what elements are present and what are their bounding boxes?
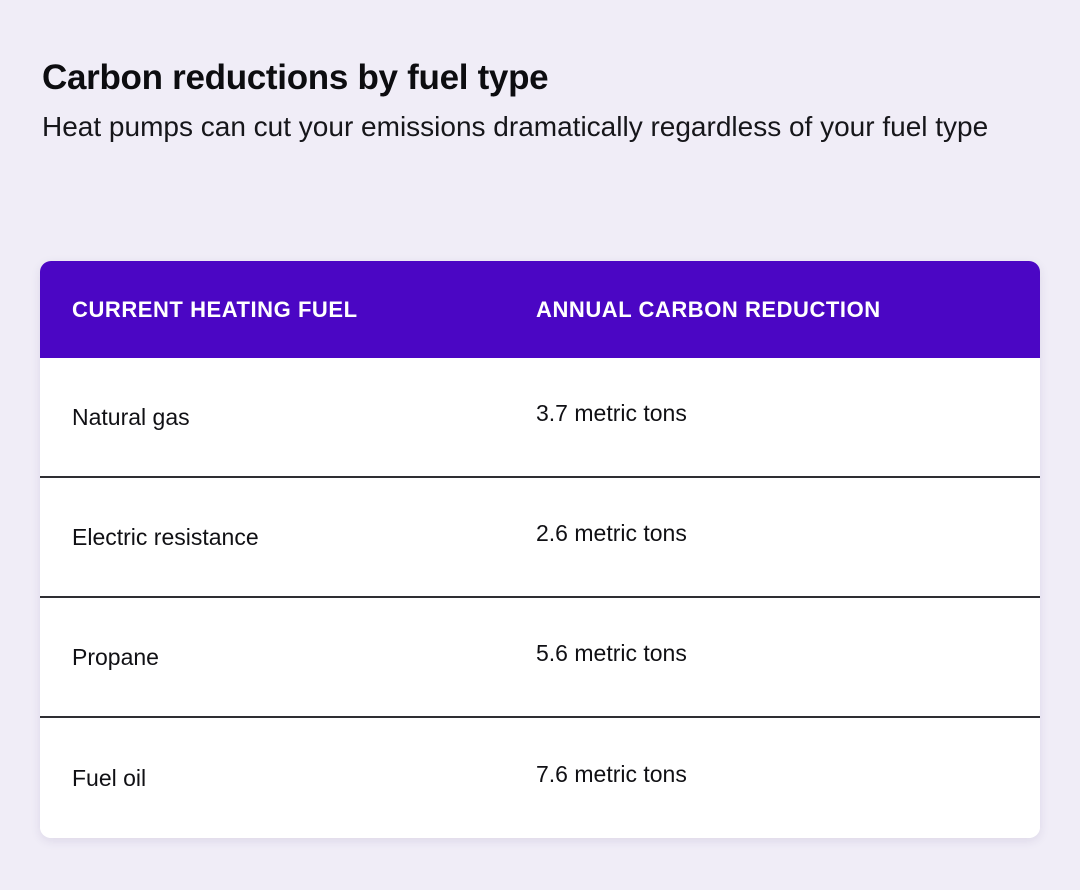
column-header-current-heating-fuel: CURRENT HEATING FUEL (72, 297, 536, 323)
table-row: Fuel oil 7.6 metric tons (40, 718, 1040, 838)
column-header-annual-carbon-reduction: ANNUAL CARBON REDUCTION (536, 297, 1008, 323)
page-title: Carbon reductions by fuel type (42, 56, 1022, 100)
page-subtitle: Heat pumps can cut your emissions dramat… (42, 100, 1007, 145)
cell-carbon-reduction: 5.6 metric tons (536, 638, 1008, 668)
cell-carbon-reduction: 3.7 metric tons (536, 398, 1008, 428)
table-row: Electric resistance 2.6 metric tons (40, 478, 1040, 598)
cell-fuel-type: Electric resistance (72, 522, 536, 552)
cell-fuel-type: Propane (72, 642, 536, 672)
page-root: Carbon reductions by fuel type Heat pump… (0, 0, 1080, 890)
cell-fuel-type: Natural gas (72, 402, 536, 432)
heading-block: Carbon reductions by fuel type Heat pump… (42, 56, 1022, 145)
table-body: Natural gas 3.7 metric tons Electric res… (40, 358, 1040, 838)
table-row: Natural gas 3.7 metric tons (40, 358, 1040, 478)
table-row: Propane 5.6 metric tons (40, 598, 1040, 718)
table-header-row: CURRENT HEATING FUEL ANNUAL CARBON REDUC… (40, 261, 1040, 358)
cell-fuel-type: Fuel oil (72, 763, 536, 793)
cell-carbon-reduction: 7.6 metric tons (536, 759, 1008, 789)
cell-carbon-reduction: 2.6 metric tons (536, 518, 1008, 548)
carbon-reduction-table-card: CURRENT HEATING FUEL ANNUAL CARBON REDUC… (40, 261, 1040, 838)
